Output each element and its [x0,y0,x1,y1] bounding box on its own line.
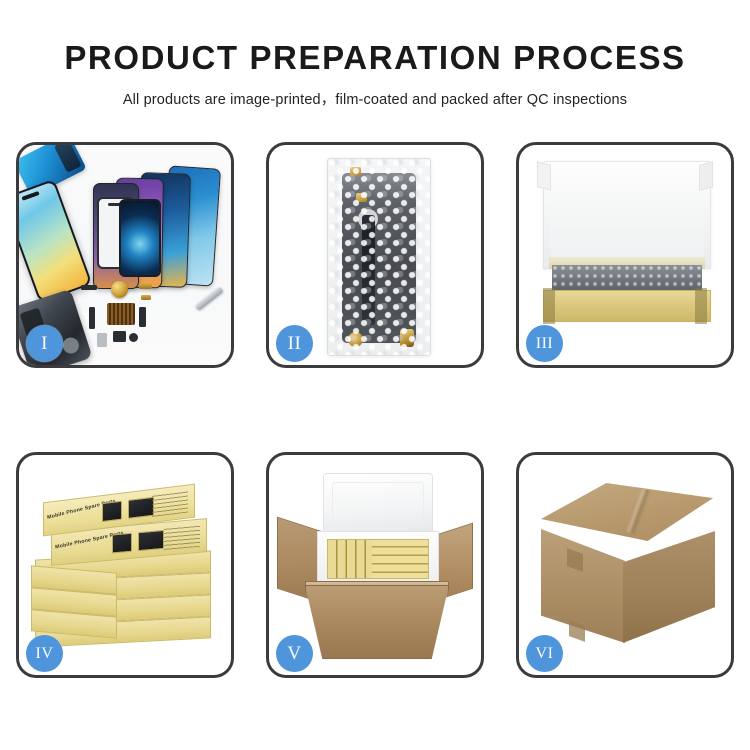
step-badge-6: VI [526,635,563,672]
lid-tab-right [699,161,713,190]
bubble-texture [328,159,430,355]
lcd-assembly [119,199,161,277]
yellow-boxes-inside [327,539,429,579]
step-badge-1: I [26,325,63,362]
step-badge-5: V [276,635,313,672]
step-badge-2: II [276,325,313,362]
small-part [141,295,151,300]
step-badge-4: IV [26,635,63,672]
step-card-2: II [266,142,484,368]
page-subtitle: All products are image-printed，film-coat… [0,88,750,109]
grey-bubble-wrap-layer [552,265,702,291]
page-header: PRODUCT PREPARATION PROCESS All products… [0,0,750,109]
page-title: PRODUCT PREPARATION PROCESS [0,40,750,76]
box-spec-lines [164,525,200,550]
lid-tab-left [537,161,551,190]
small-part [81,285,97,290]
box-window-screen [128,497,154,519]
foam-lid [543,161,711,269]
box-window-screen [138,530,164,551]
box-spec-lines [152,491,188,517]
small-part [89,307,95,329]
foam-box-lid [323,473,433,535]
small-part [139,307,146,327]
step-card-1: I [16,142,234,368]
small-part [129,333,138,342]
bubble-wrap-bag [327,158,431,356]
step-card-3: III [516,142,734,368]
box-flap-right [695,288,707,324]
step-card-6: VI [516,452,734,678]
small-part [139,283,152,289]
speaker-coil-part [111,281,128,298]
carton-right-face [623,531,715,643]
ic-chip-array [107,303,135,325]
small-part [97,333,107,347]
carton-body [305,585,449,659]
process-steps-grid: I II [16,142,734,678]
step-badge-3: III [526,325,563,362]
box-window-screen [112,533,132,554]
yellow-box-front [543,290,711,322]
small-part [113,331,126,342]
retail-box-stack: Mobile Phone Spare Parts Mobile Phone Sp… [29,471,225,667]
step-card-5: V [266,452,484,678]
box-window-screen [102,501,122,522]
box-flap-left [543,288,555,324]
step-card-4: Mobile Phone Spare Parts Mobile Phone Sp… [16,452,234,678]
